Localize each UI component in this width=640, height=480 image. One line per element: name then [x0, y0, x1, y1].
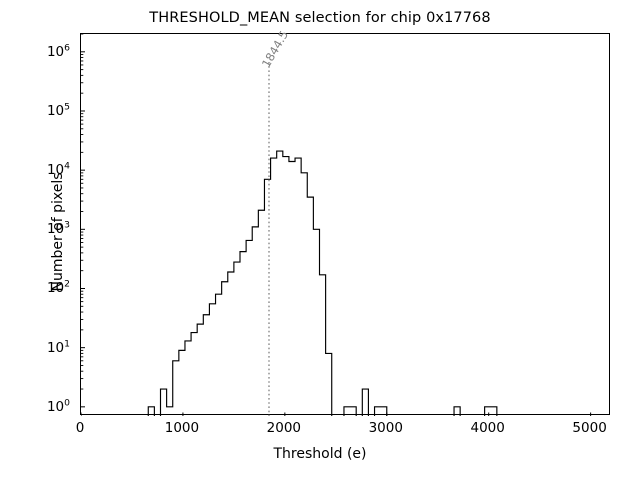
x-tick-label: 0	[40, 420, 120, 436]
histogram-canvas	[81, 34, 611, 416]
x-axis-tick-marks	[81, 413, 591, 417]
y-axis-tick-marks	[81, 34, 85, 407]
matplotlib-figure: THRESHOLD_MEAN selection for chip 0x1776…	[0, 0, 640, 480]
y-tick-label: 100	[8, 397, 70, 415]
y-tick-label: 105	[8, 101, 70, 119]
x-axis-title: Threshold (e)	[0, 446, 640, 462]
x-tick-label: 2000	[244, 420, 324, 436]
y-tick-label: 106	[8, 42, 70, 60]
histogram-step-path	[148, 151, 497, 416]
y-tick-label: 104	[8, 160, 70, 178]
x-tick-label: 1000	[142, 420, 222, 436]
y-tick-label: 102	[8, 279, 70, 297]
x-tick-label: 5000	[550, 420, 630, 436]
page-title: THRESHOLD_MEAN selection for chip 0x1776…	[0, 10, 640, 26]
x-tick-label: 3000	[346, 420, 426, 436]
y-tick-label: 101	[8, 338, 70, 356]
y-tick-label: 103	[8, 220, 70, 238]
plot-axes: 1844.5	[80, 33, 610, 415]
y-axis-title: Number of pixels	[50, 82, 66, 382]
x-tick-label: 4000	[448, 420, 528, 436]
